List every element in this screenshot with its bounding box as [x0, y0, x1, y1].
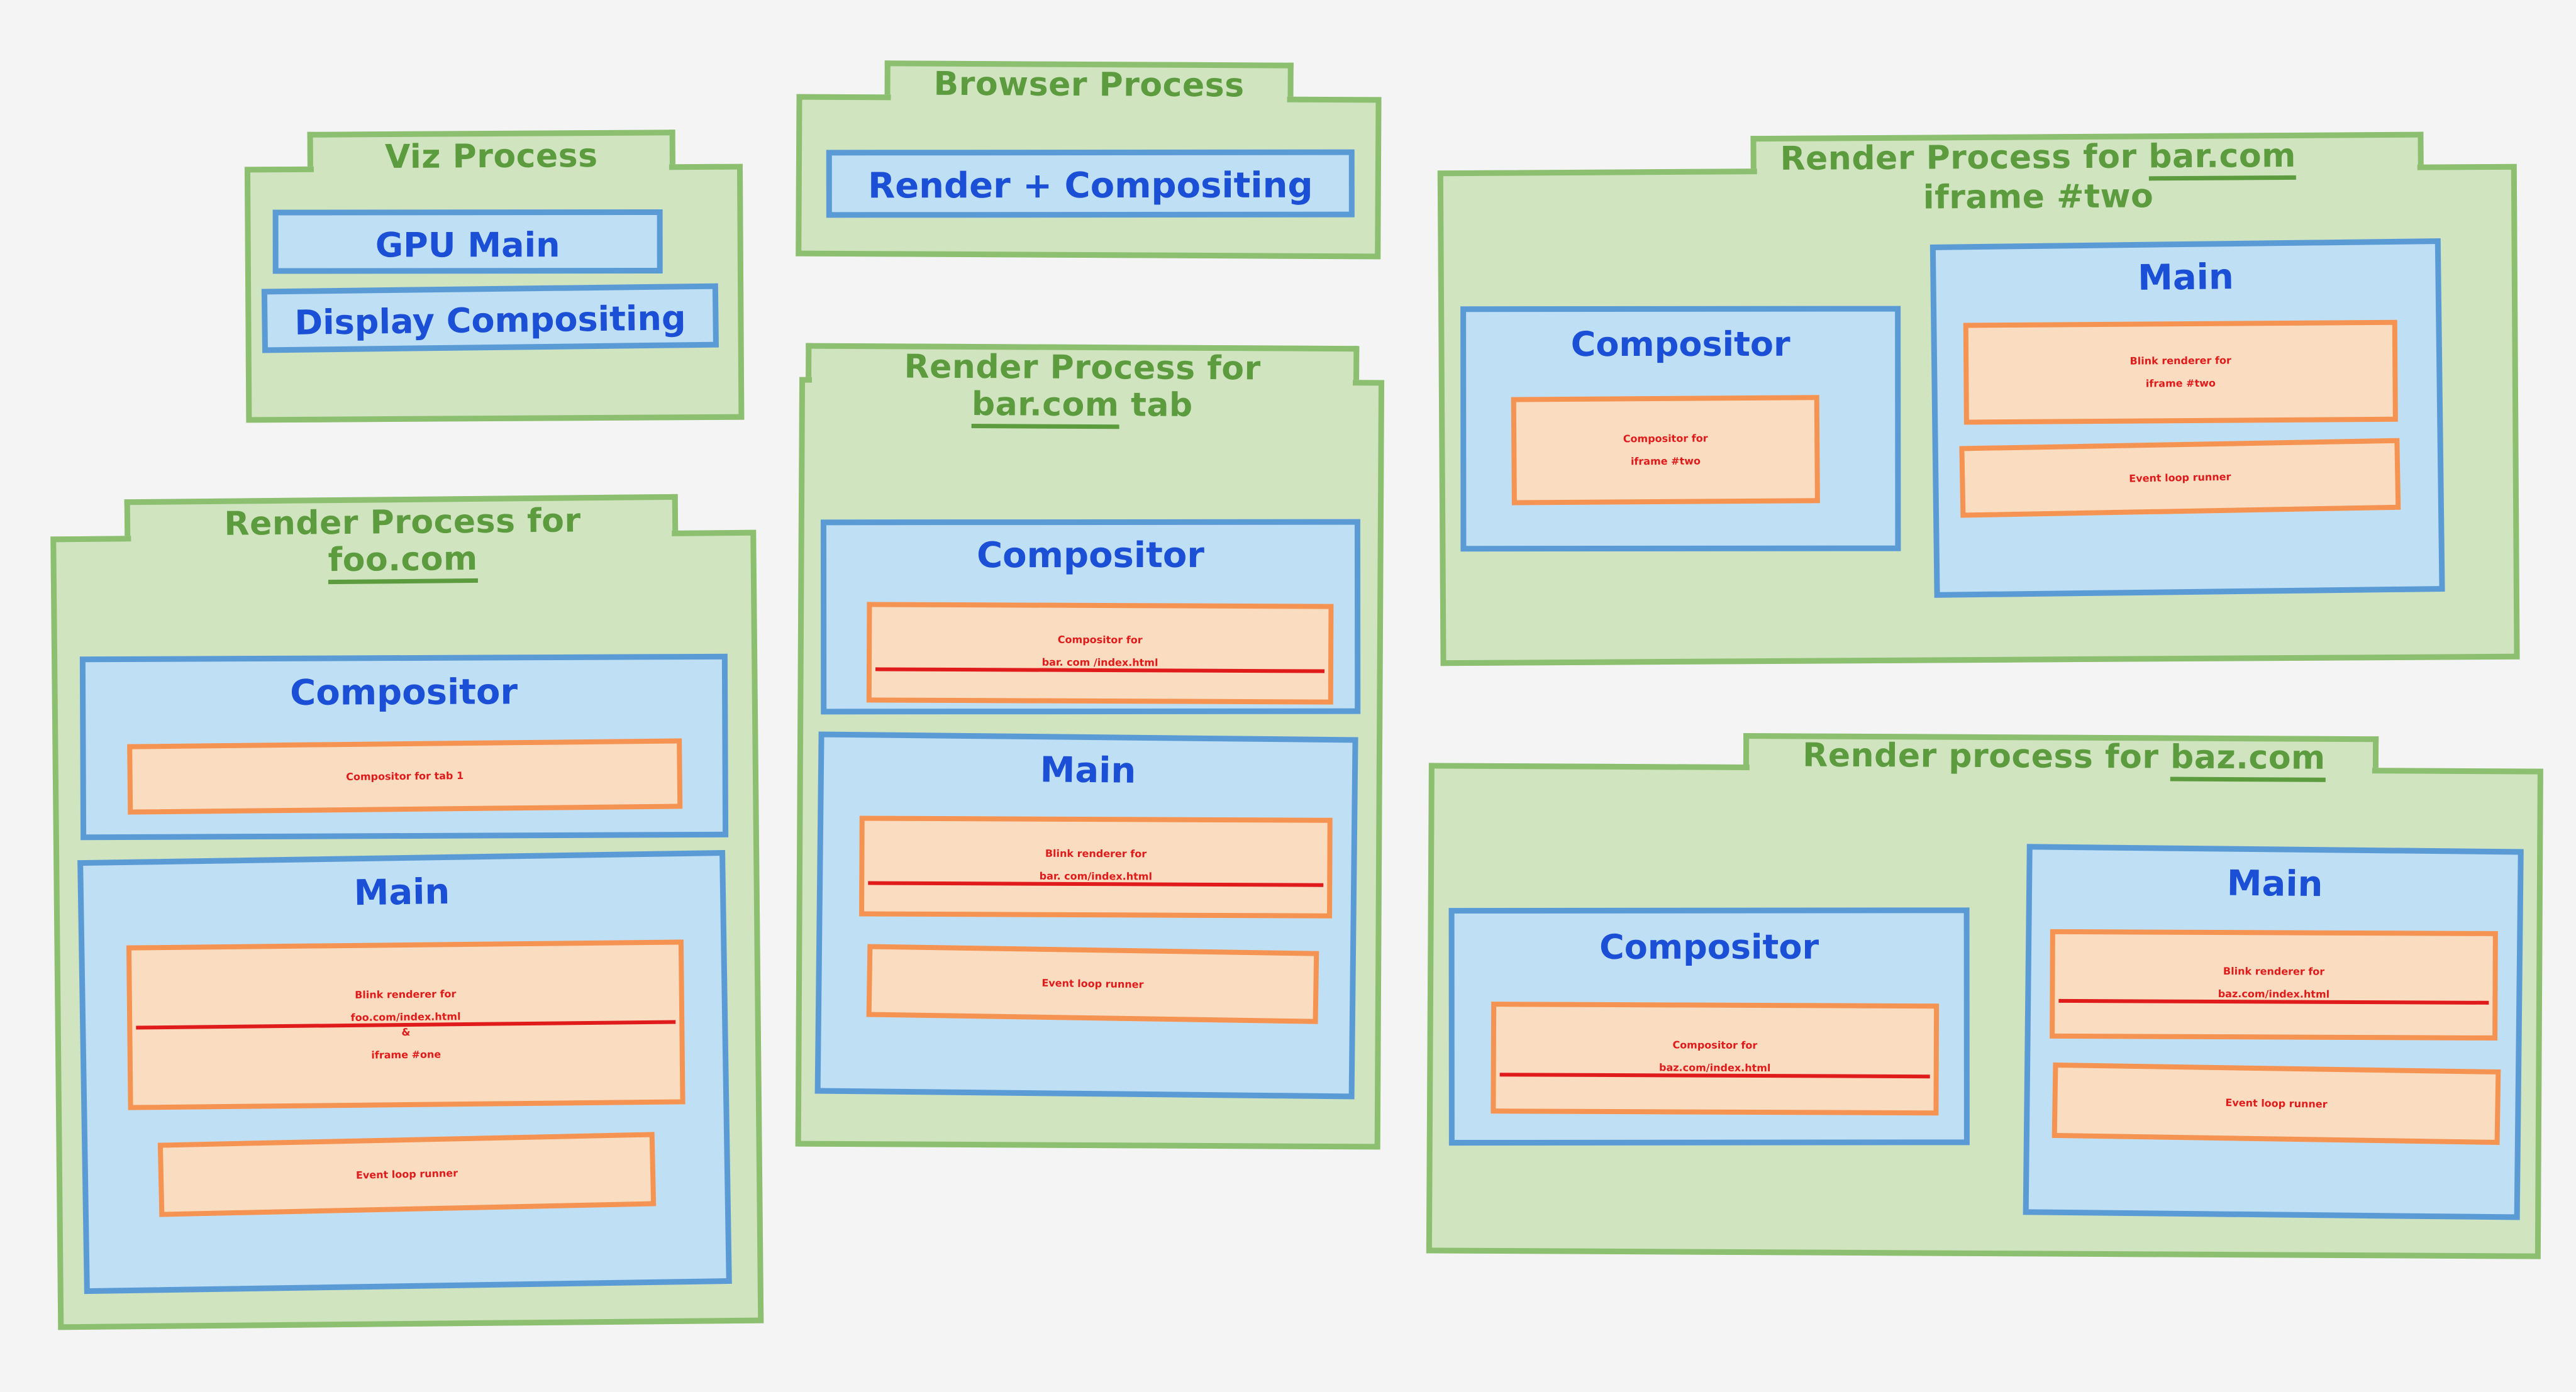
task-text: Blink renderer for iframe #two — [1968, 354, 2392, 390]
task-blink-renderer-baz[interactable]: Blink renderer for baz.com/index.html — [2050, 929, 2498, 1041]
process-render-foo-com[interactable]: Render Process for foo.com Compositor Co… — [50, 494, 764, 1330]
task-text: Event loop runner — [164, 1164, 650, 1186]
task-blink-renderer-bar[interactable]: Blink renderer for bar. com/index.html — [859, 815, 1333, 918]
thread-label: Main — [1936, 257, 2436, 299]
task-text: Event loop runner — [2057, 1095, 2495, 1113]
task-compositor-iframe-two[interactable]: Compositor for iframe #two — [1511, 395, 1820, 505]
thread-render-compositing[interactable]: Render + Compositing — [826, 150, 1355, 218]
task-text: Compositor for iframe #two — [1516, 432, 1814, 468]
thread-main[interactable]: Main Blink renderer for iframe #two Even… — [1930, 238, 2445, 598]
thread-label: Display Compositing — [267, 301, 713, 341]
process-render-baz-com[interactable]: Render process for baz.com Compositor Co… — [1426, 731, 2543, 1259]
process-browser-process[interactable]: Browser Process Render + Compositing — [796, 60, 1382, 260]
task-line-1: Blink renderer for — [868, 848, 1323, 861]
task-event-loop-runner[interactable]: Event loop runner — [2052, 1063, 2501, 1145]
task-text: Compositor for bar. com /index.html — [872, 634, 1328, 673]
process-title-domain: foo.com — [328, 540, 478, 584]
task-line-2-url: baz.com/index.html — [1500, 1061, 1930, 1078]
thread-label: Render + Compositing — [832, 168, 1349, 206]
thread-compositor[interactable]: Compositor Compositor for bar. com /inde… — [821, 519, 1360, 715]
thread-display-compositing[interactable]: Display Compositing — [262, 284, 719, 353]
task-line-2: iframe #two — [1520, 455, 1811, 468]
thread-main[interactable]: Main Blink renderer for baz.com/index.ht… — [2023, 844, 2524, 1220]
task-line-1: Compositor for — [1520, 432, 1811, 445]
process-title-suffix: tab — [1119, 386, 1193, 424]
process-title-line1: Render Process for — [799, 350, 1365, 387]
task-event-loop-runner[interactable]: Event loop runner — [1959, 438, 2401, 518]
thread-gpu-main[interactable]: GPU Main — [273, 209, 663, 274]
process-title-prefix: Render Process for — [1780, 138, 2148, 178]
task-line-1: Blink renderer for — [1972, 354, 2389, 368]
process-title: Render process for baz.com — [1668, 737, 2460, 776]
thread-main[interactable]: Main Blink renderer for foo.com/index.ht… — [77, 850, 732, 1294]
process-title: Render Process for bar.com tab — [799, 350, 1366, 424]
task-line-2-url: bar. com/index.html — [868, 870, 1323, 887]
thread-compositor[interactable]: Compositor Compositor for baz.com/index.… — [1449, 907, 1970, 1146]
process-title-domain: baz.com — [2170, 739, 2326, 782]
task-text: Event loop runner — [872, 975, 1313, 993]
task-line-1: Compositor for — [875, 634, 1324, 647]
process-title: Render Process for bar.com iframe #two — [1626, 138, 2451, 217]
thread-compositor[interactable]: Compositor Compositor for tab 1 — [80, 654, 728, 840]
task-line-2-url: bar. com /index.html — [875, 656, 1324, 673]
thread-compositor[interactable]: Compositor Compositor for iframe #two — [1460, 306, 1901, 552]
process-title: Browser Process — [884, 67, 1293, 104]
task-line-3: iframe #one — [136, 1046, 676, 1063]
task-text: Compositor for tab 1 — [133, 768, 677, 785]
thread-main[interactable]: Main Blink renderer for bar. com/index.h… — [815, 731, 1358, 1099]
task-compositor-bar-index[interactable]: Compositor for bar. com /index.html — [867, 602, 1334, 704]
process-title-line1: Render Process for — [101, 502, 704, 543]
process-title-domain: bar.com — [2148, 137, 2296, 180]
diagram-canvas: Viz Process GPU Main Display Compositing… — [0, 0, 2576, 1392]
thread-label: Main — [2032, 863, 2518, 905]
thread-label: Compositor — [1466, 327, 1895, 363]
thread-label: Main — [84, 870, 721, 917]
task-line-1: Blink renderer for — [2059, 965, 2489, 978]
task-line-2-url: baz.com/index.html — [2058, 988, 2489, 1005]
process-title-prefix: Render process for — [1802, 736, 2170, 776]
process-title: Render Process for foo.com — [101, 502, 705, 580]
task-line-1: Compositor for — [1500, 1039, 1930, 1052]
task-event-loop-runner[interactable]: Event loop runner — [867, 944, 1319, 1024]
process-title-line2: iframe #two — [1923, 177, 2154, 216]
task-text: Blink renderer for baz.com/index.html — [2055, 965, 2492, 1005]
process-viz-process[interactable]: Viz Process GPU Main Display Compositing — [245, 130, 745, 423]
task-text: Event loop runner — [1965, 468, 2395, 487]
thread-label: Compositor — [86, 673, 722, 713]
task-event-loop-runner[interactable]: Event loop runner — [158, 1132, 656, 1217]
task-text: Compositor for baz.com/index.html — [1496, 1039, 1934, 1078]
process-render-bar-com-tab[interactable]: Render Process for bar.com tab Composito… — [796, 343, 1385, 1150]
task-blink-renderer-iframe-two[interactable]: Blink renderer for iframe #two — [1963, 320, 2398, 425]
process-title: Viz Process — [308, 138, 675, 175]
task-text: Blink renderer for foo.com/index.html & … — [132, 986, 680, 1064]
thread-label: GPU Main — [279, 228, 657, 263]
task-line-1: Blink renderer for — [136, 986, 675, 1003]
task-compositor-tab-1[interactable]: Compositor for tab 1 — [127, 738, 682, 814]
task-line-2: iframe #two — [1972, 377, 2389, 391]
thread-label: Main — [824, 750, 1353, 793]
process-title-domain: bar.com — [972, 385, 1119, 429]
thread-label: Compositor — [1455, 929, 1964, 965]
process-render-bar-com-iframe-two[interactable]: Render Process for bar.com iframe #two C… — [1437, 131, 2519, 666]
task-blink-renderer-foo[interactable]: Blink renderer for foo.com/index.html & … — [126, 939, 686, 1110]
task-text: Blink renderer for bar. com/index.html — [864, 848, 1327, 887]
thread-label: Compositor — [826, 538, 1355, 575]
task-compositor-baz-index[interactable]: Compositor for baz.com/index.html — [1491, 1002, 1939, 1115]
